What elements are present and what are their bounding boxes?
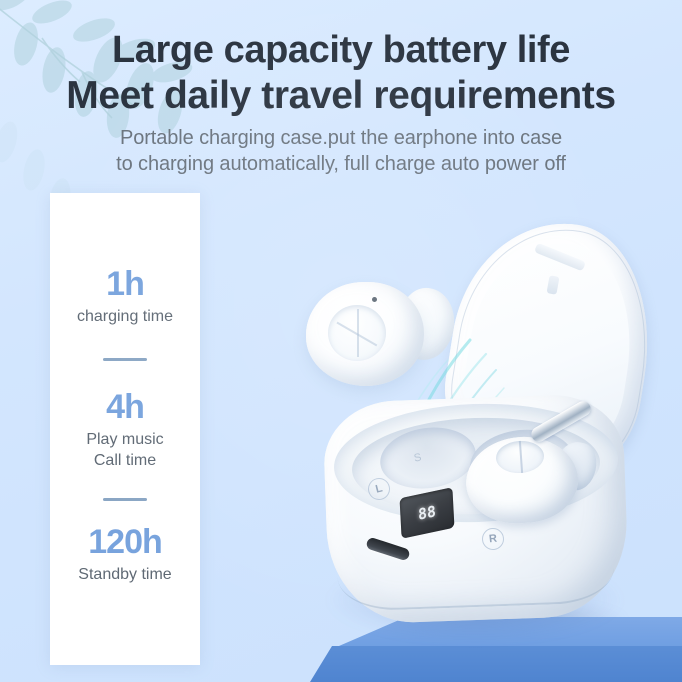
- floating-earbud-touchpad: [328, 305, 386, 361]
- spec-label: Standby time: [50, 564, 200, 585]
- subheading-line-2: to charging automatically, full charge a…: [0, 151, 682, 177]
- headline-line-2: Meet daily travel requirements: [0, 73, 682, 118]
- spec-value: 120h: [50, 523, 200, 561]
- spec-divider-1: [103, 358, 147, 361]
- spec-value: 1h: [50, 265, 200, 303]
- spec-label: Play music: [50, 429, 200, 450]
- subheading-line-1: Portable charging case.put the earphone …: [0, 125, 682, 151]
- spec-label: charging time: [50, 306, 200, 327]
- headline-block: Large capacity battery life Meet daily t…: [0, 28, 682, 118]
- spec-item-play-time: 4h Play music Call time: [50, 388, 200, 471]
- pedestal-front-face: [310, 646, 682, 682]
- spec-item-standby-time: 120h Standby time: [50, 523, 200, 585]
- spec-divider-2: [103, 498, 147, 501]
- spec-item-charging-time: 1h charging time: [50, 265, 200, 327]
- spec-panel: 1h charging time 4h Play music Call time…: [50, 193, 200, 665]
- spec-label-secondary: Call time: [50, 450, 200, 471]
- headline-line-1: Large capacity battery life: [0, 28, 682, 73]
- floating-earbud-microphone: [372, 297, 377, 302]
- spec-value: 4h: [50, 388, 200, 426]
- product-marketing-banner: Large capacity battery life Meet daily t…: [0, 0, 682, 682]
- subheading-block: Portable charging case.put the earphone …: [0, 125, 682, 177]
